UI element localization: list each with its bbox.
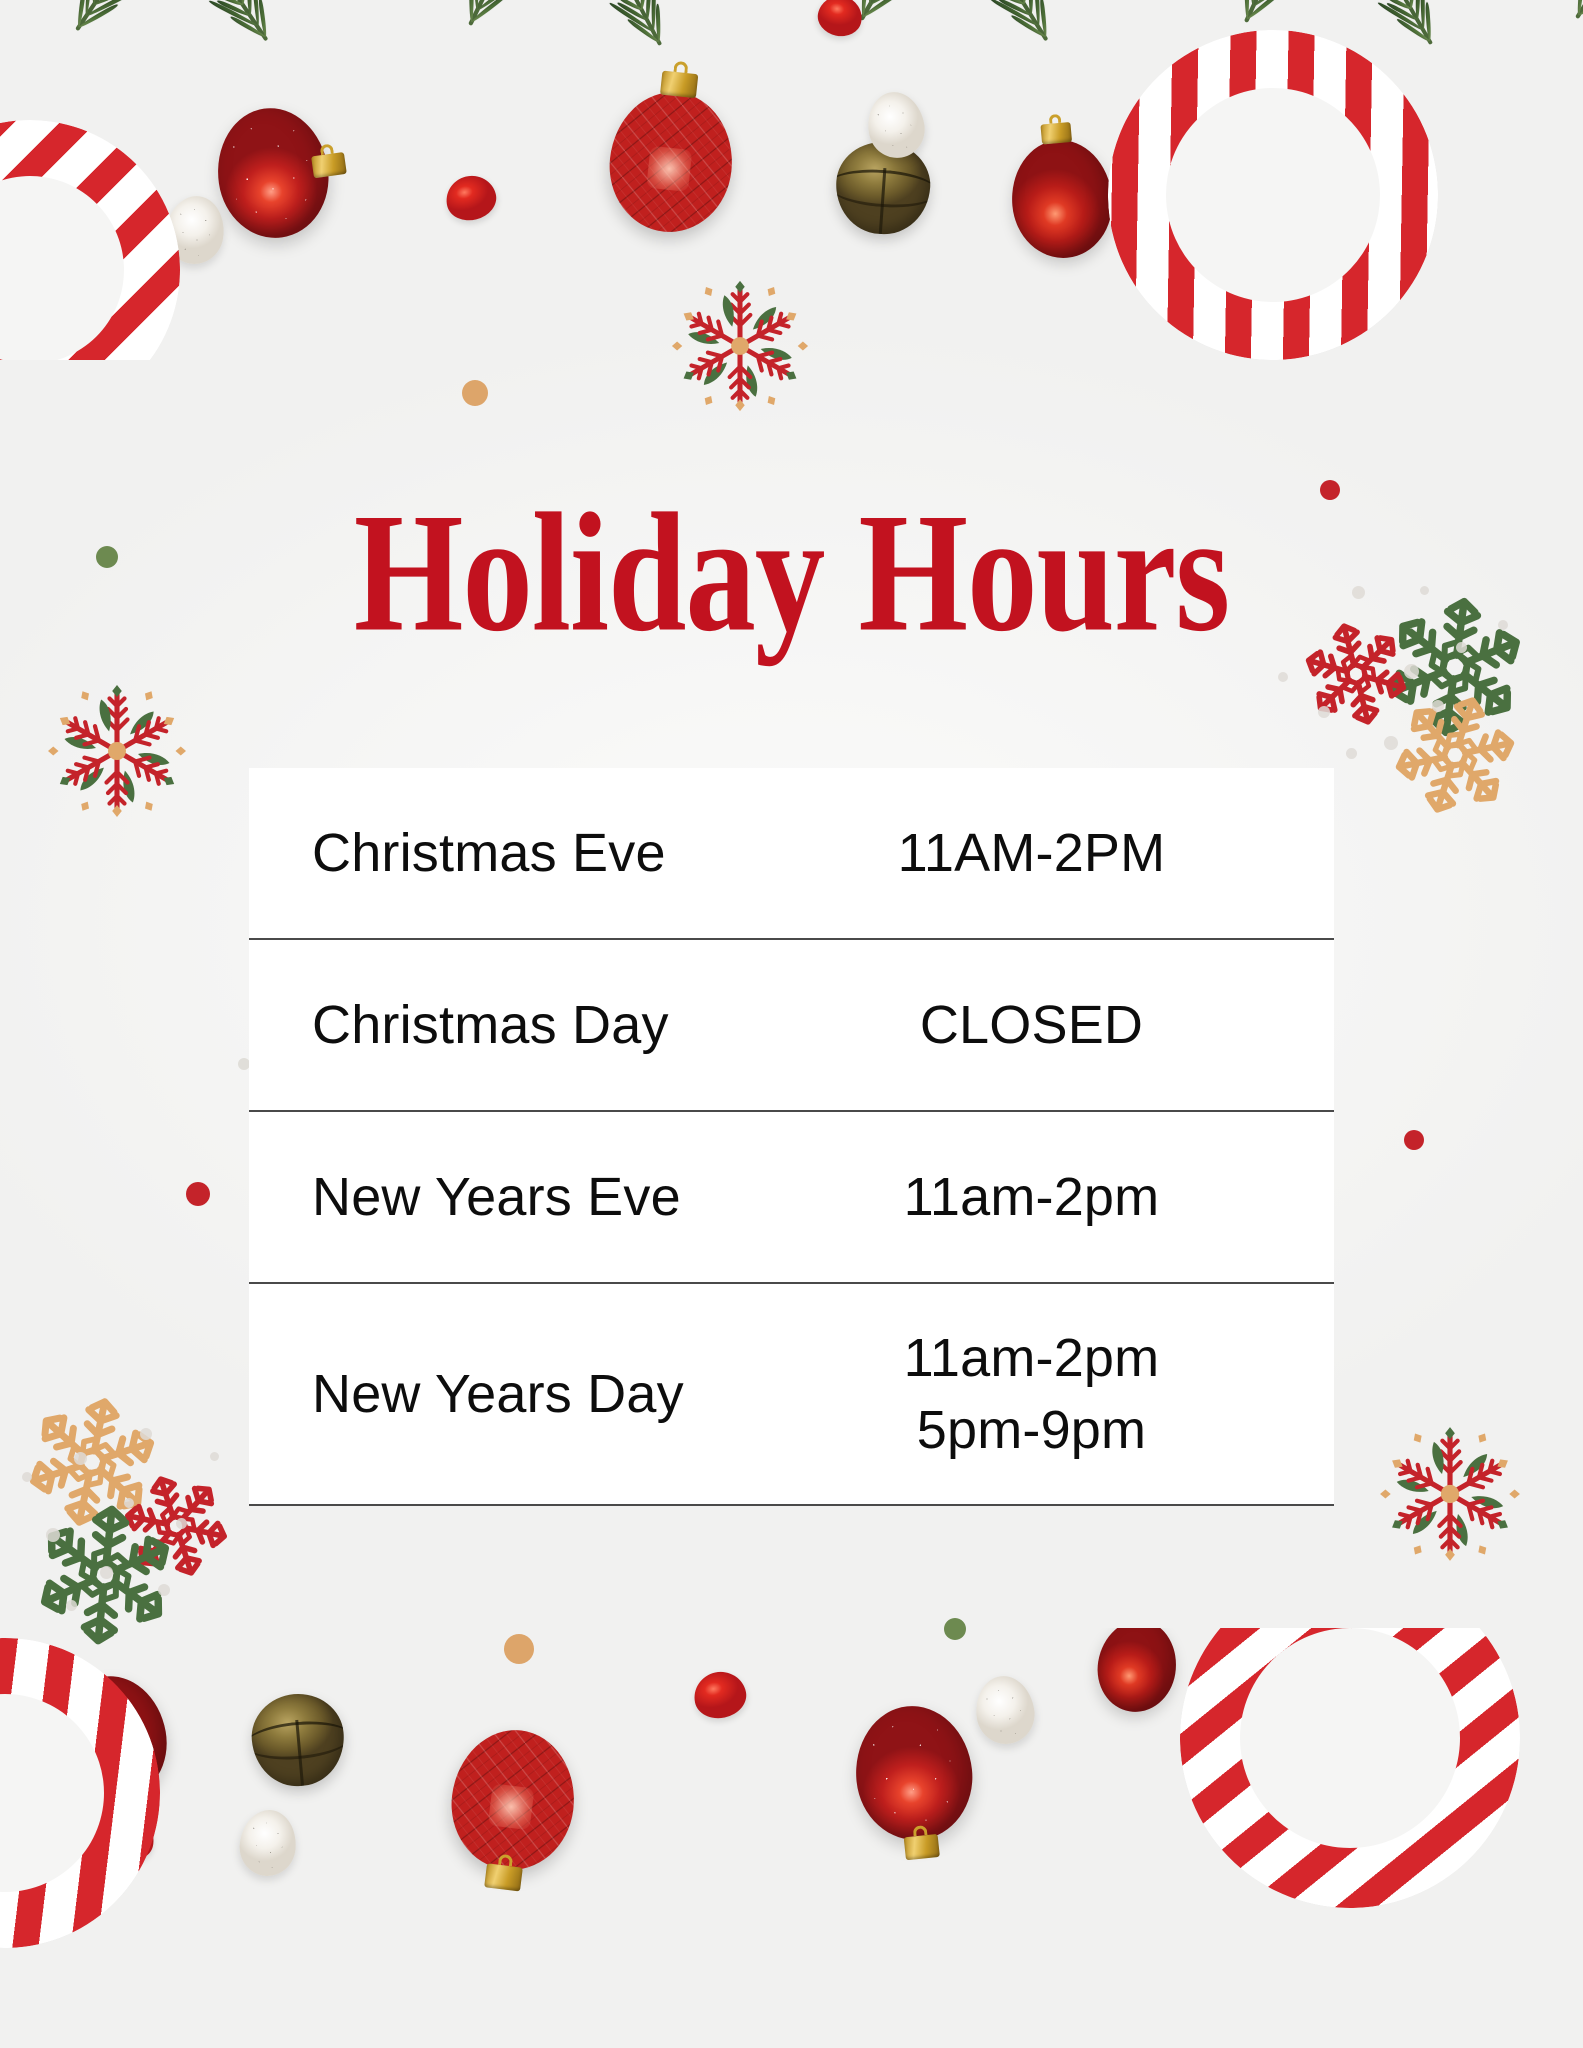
bauble-cap bbox=[484, 1863, 523, 1891]
bauble-loop bbox=[1049, 114, 1062, 124]
holiday-name-cell: Christmas Day bbox=[249, 994, 809, 1056]
scatter-dot bbox=[1318, 706, 1330, 718]
red-berry bbox=[441, 171, 500, 226]
pine-needle bbox=[656, 4, 661, 42]
candy-cane bbox=[1055, 0, 1491, 360]
holiday-hours-table: Christmas Eve11AM-2PMChristmas DayCLOSED… bbox=[249, 768, 1334, 1506]
hours-line: 5pm-9pm bbox=[809, 1394, 1254, 1466]
red-glitter-bauble bbox=[849, 1700, 978, 1845]
red-glitter-bauble bbox=[209, 101, 336, 245]
holiday-name-cell: New Years Day bbox=[249, 1363, 809, 1425]
pine-sprig bbox=[545, 0, 704, 68]
page-title: Holiday Hours bbox=[0, 487, 1583, 657]
scatter-dot bbox=[46, 1528, 60, 1542]
bauble-loop bbox=[673, 61, 689, 73]
bottom-decorative-border bbox=[0, 1628, 1583, 2048]
scatter-dot bbox=[186, 1182, 210, 1206]
white-speckled-ornament bbox=[237, 1807, 300, 1878]
bauble-cap bbox=[903, 1834, 940, 1860]
holiday-hours-poster: Holiday Hours Christmas Eve11AM-2PMChris… bbox=[0, 0, 1583, 2048]
pine-sprig bbox=[1529, 0, 1583, 48]
bauble-cap bbox=[660, 70, 699, 97]
pine-sprig bbox=[133, 0, 309, 68]
pine-needle bbox=[645, 0, 651, 21]
scatter-dot bbox=[66, 1600, 77, 1611]
pine-sprig bbox=[416, 0, 609, 51]
scatter-dot bbox=[1404, 664, 1419, 679]
bauble-body bbox=[1007, 136, 1117, 262]
vector-snowflake bbox=[1374, 1418, 1526, 1570]
white-speckled-ornament bbox=[972, 1672, 1039, 1747]
scatter-dot bbox=[140, 1428, 152, 1440]
pine-needle bbox=[651, 0, 656, 31]
pine-needle bbox=[1029, 0, 1033, 15]
table-row: New Years Day11am-2pm5pm-9pm bbox=[249, 1284, 1334, 1506]
bauble-loop bbox=[320, 144, 334, 156]
scatter-dot bbox=[74, 1452, 87, 1465]
holiday-hours-cell: 11am-2pm bbox=[809, 1161, 1334, 1233]
bauble-cap bbox=[1040, 122, 1072, 145]
red-berry bbox=[690, 1667, 750, 1723]
scatter-dot bbox=[462, 380, 488, 406]
red-matte-bauble bbox=[1091, 1628, 1182, 1718]
gold-jingle-bell bbox=[248, 1690, 348, 1790]
table-row: Christmas DayCLOSED bbox=[249, 940, 1334, 1112]
candy-cane bbox=[1123, 1628, 1578, 1965]
bauble-body bbox=[444, 1723, 582, 1877]
bauble-body bbox=[603, 86, 739, 238]
scatter-dot bbox=[22, 1472, 32, 1482]
red-berry bbox=[814, 0, 865, 40]
pine-sprig bbox=[917, 0, 1090, 67]
holiday-name-cell: Christmas Eve bbox=[249, 822, 809, 884]
scatter-dot bbox=[176, 1518, 187, 1529]
bauble-body bbox=[1091, 1628, 1182, 1718]
holiday-hours-cell: CLOSED bbox=[809, 989, 1334, 1061]
table-row: Christmas Eve11AM-2PM bbox=[249, 768, 1334, 940]
scatter-dot bbox=[1404, 1130, 1424, 1150]
vector-snowflake bbox=[105, 1455, 246, 1596]
white-speckled-ornament bbox=[863, 88, 930, 163]
pine-stem bbox=[75, 0, 181, 31]
scatter-dot bbox=[158, 1584, 170, 1596]
red-faceted-bauble bbox=[603, 86, 739, 238]
scatter-dot bbox=[100, 1566, 113, 1579]
vector-snowflake bbox=[42, 676, 192, 826]
vector-snowflake bbox=[9, 1379, 175, 1545]
red-faceted-bauble bbox=[444, 1723, 582, 1877]
vector-snowflake bbox=[1373, 673, 1537, 837]
pine-needle bbox=[1415, 0, 1420, 20]
scatter-dot bbox=[1278, 672, 1288, 682]
bauble-body bbox=[849, 1700, 978, 1845]
scatter-dot bbox=[1346, 748, 1357, 759]
red-matte-bauble bbox=[1007, 136, 1117, 262]
holiday-hours-cell: 11AM-2PM bbox=[809, 817, 1334, 889]
scatter-dot bbox=[1384, 736, 1398, 750]
hours-line: 11am-2pm bbox=[809, 1322, 1254, 1394]
table-row: New Years Eve11am-2pm bbox=[249, 1112, 1334, 1284]
scatter-dot bbox=[1432, 700, 1444, 712]
candy-cane bbox=[0, 1628, 200, 1988]
holiday-name-cell: New Years Eve bbox=[249, 1166, 809, 1228]
hours-line: 11AM-2PM bbox=[809, 817, 1254, 889]
hours-line: 11am-2pm bbox=[809, 1161, 1254, 1233]
hours-line: CLOSED bbox=[809, 989, 1254, 1061]
scatter-dot bbox=[210, 1452, 219, 1461]
scatter-dot bbox=[124, 1498, 134, 1508]
bauble-cap bbox=[311, 152, 347, 178]
holiday-hours-cell: 11am-2pm5pm-9pm bbox=[809, 1322, 1334, 1467]
top-decorative-border bbox=[0, 0, 1583, 360]
